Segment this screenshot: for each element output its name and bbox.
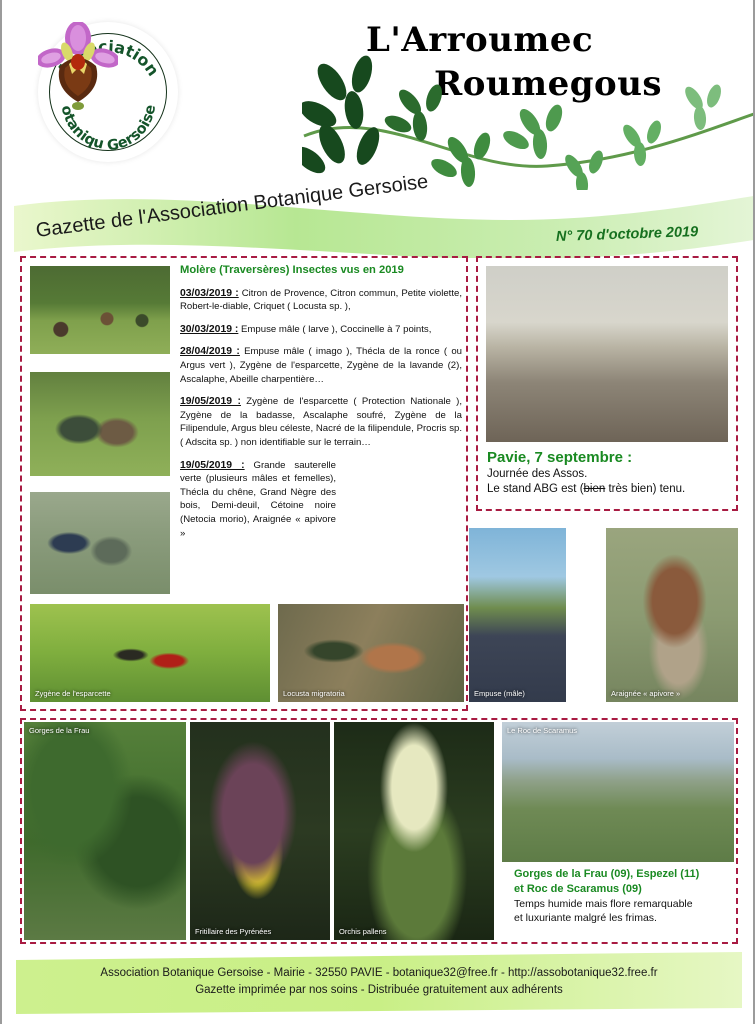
logo-word-right: Gersoise — [106, 103, 159, 154]
insect-entry: 28/04/2019 : Empuse mâle ( imago ), Théc… — [180, 345, 462, 386]
photo-gorges-de-la-frau: Gorges de la Frau — [24, 722, 186, 940]
gazette-page: Association Botanique Gersoise — [0, 0, 755, 1024]
photo-field-botanists-1 — [30, 266, 170, 354]
page-footer: Association Botanique Gersoise - Mairie … — [16, 952, 742, 1014]
footer-line-2: Gazette imprimée par nos soins - Distrib… — [16, 982, 742, 999]
page-header: Association Botanique Gersoise — [2, 0, 755, 190]
photo-field-botanists-photographing — [30, 492, 170, 594]
insect-entry: 30/03/2019 : Empuse mâle ( larve ), Cocc… — [180, 323, 462, 337]
insect-entry-date: 19/05/2019 : — [180, 396, 241, 407]
photo-caption: Le Roc de Scaramus — [507, 726, 577, 735]
insect-entry-body: Grande sauterelle verte (plusieurs mâles… — [180, 460, 336, 539]
association-logo: Association Botanique Gersoise — [38, 22, 178, 162]
footer-text: Association Botanique Gersoise - Mairie … — [16, 965, 742, 999]
gazette-banner: Gazette de l'Association Botanique Gerso… — [14, 190, 754, 258]
photo-empuse: Empuse (mâle) — [469, 528, 566, 702]
photo-caption: Empuse (mâle) — [474, 689, 525, 698]
fieldtrip-body-line-2: et luxuriante malgré les frimas. — [514, 911, 732, 925]
text-wrap-spacer — [336, 459, 462, 563]
photo-caption: Fritillaire des Pyrénées — [195, 927, 271, 936]
pavie-line-1: Journée des Assos. — [487, 467, 733, 482]
photo-caption: Gorges de la Frau — [29, 726, 89, 735]
insects-text-column: Molère (Traversères) Insectes vus en 201… — [180, 264, 462, 563]
pavie-line-2-pre: Le stand ABG est ( — [487, 483, 584, 495]
insect-entry-date: 28/04/2019 : — [180, 346, 240, 357]
pavie-title: Pavie, 7 septembre : — [487, 450, 733, 465]
photo-caption: Araignée « apivore » — [611, 689, 680, 698]
insects-heading: Molère (Traversères) Insectes vus en 201… — [180, 264, 462, 278]
leafy-vine-icon — [302, 40, 755, 190]
photo-caption: Zygène de l'esparcette — [35, 689, 111, 698]
insect-entry-date: 03/03/2019 : — [180, 288, 239, 299]
photo-caption: Orchis pallens — [339, 927, 387, 936]
photo-fritillaire: Fritillaire des Pyrénées — [190, 722, 330, 940]
insect-entry-body: Empuse mâle ( larve ), Coccinelle à 7 po… — [241, 324, 431, 335]
insect-entry-date: 19/05/2019 : — [180, 460, 245, 471]
insect-entry: 03/03/2019 : Citron de Provence, Citron … — [180, 287, 462, 314]
insect-entry: 19/05/2019 : Zygène de l'esparcette ( Pr… — [180, 395, 462, 449]
insect-entry-date: 30/03/2019 : — [180, 324, 238, 335]
orchid-flower-icon — [38, 22, 118, 110]
photo-pavie-stand — [486, 266, 728, 442]
photo-field-botanists-dog — [30, 372, 170, 476]
fieldtrip-body-line-1: Temps humide mais flore remarquable — [514, 897, 732, 911]
insect-entry: 19/05/2019 : Grande sauterelle verte (pl… — [180, 459, 462, 541]
pavie-line-2-post: très bien) tenu. — [605, 483, 685, 495]
photo-roc-de-scaramus: Le Roc de Scaramus — [502, 722, 734, 862]
fieldtrip-title-line-2: et Roc de Scaramus (09) — [514, 883, 732, 897]
svg-text:Gersoise: Gersoise — [106, 103, 159, 154]
photo-orchis: Orchis pallens — [334, 722, 494, 940]
fieldtrip-title-line-1: Gorges de la Frau (09), Espezel (11) — [514, 868, 732, 882]
photo-spider: Araignée « apivore » — [606, 528, 738, 702]
pavie-line-2: Le stand ABG est (bien très bien) tenu. — [487, 482, 733, 497]
fieldtrip-text-block: Gorges de la Frau (09), Espezel (11) et … — [514, 868, 732, 925]
footer-line-1: Association Botanique Gersoise - Mairie … — [16, 965, 742, 982]
photo-zygene: Zygène de l'esparcette — [30, 604, 270, 702]
photo-locusta: Locusta migratoria — [278, 604, 464, 702]
pavie-text-block: Pavie, 7 septembre : Journée des Assos. … — [487, 450, 733, 497]
photo-caption: Locusta migratoria — [283, 689, 345, 698]
pavie-struck-word: bien — [584, 483, 606, 495]
